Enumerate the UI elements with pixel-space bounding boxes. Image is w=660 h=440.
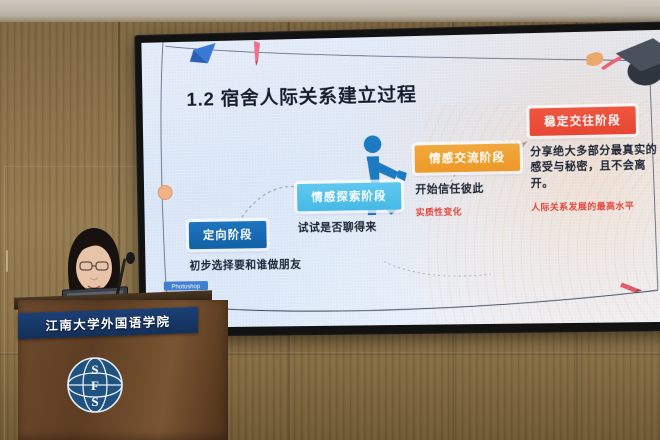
pennant-icon <box>189 43 215 64</box>
stage-3-caption: 开始信任彼此 <box>415 180 520 197</box>
graduation-cap-icon <box>615 38 660 87</box>
book-label: Photoshop <box>171 284 201 290</box>
svg-text:F: F <box>91 378 99 393</box>
stage-4[interactable]: 稳定交往阶段 分享绝大多部分最真实的感受与秘密，且不会离开。 人际关系发展的最高… <box>529 106 660 214</box>
stage-4-caption: 分享绝大多部分最真实的感受与秘密，且不会离开。 <box>530 143 660 193</box>
stage-2-chip[interactable]: 情感探索阶段 <box>297 182 401 211</box>
stage-3-chip[interactable]: 情感交流阶段 <box>415 143 520 172</box>
venue-plaque-text: 江南大学外国语学院 <box>45 312 170 335</box>
page-title: 1.2 宿舍人际关系建立过程 <box>186 81 417 112</box>
pen-icon-bottom <box>620 282 642 293</box>
projection-screen: 1.2 宿舍人际关系建立过程 定向阶段 初步选择要和谁做朋友 情感探索阶段 试试… <box>135 22 660 336</box>
svg-text:S: S <box>91 362 98 377</box>
microphone-head <box>126 252 135 264</box>
svg-text:S: S <box>91 394 98 409</box>
lecture-hall-photo: 1.2 宿舍人际关系建立过程 定向阶段 初步选择要和谁做朋友 情感探索阶段 试试… <box>0 0 660 440</box>
door-handle <box>6 250 8 272</box>
stage-1[interactable]: 定向阶段 初步选择要和谁做朋友 <box>189 220 302 273</box>
stage-2-caption: 试试是否聊得来 <box>298 219 402 236</box>
stage-3-note: 实质性变化 <box>416 204 521 218</box>
stage-4-note: 人际关系发展的最高水平 <box>531 199 660 214</box>
stage-2[interactable]: 情感探索阶段 试试是否聊得来 <box>297 182 402 235</box>
stage-4-chip[interactable]: 稳定交往阶段 <box>529 106 635 136</box>
presentation-slide: 1.2 宿舍人际关系建立过程 定向阶段 初步选择要和谁做朋友 情感探索阶段 试试… <box>141 30 660 328</box>
pen-icon <box>254 41 261 66</box>
stage-3[interactable]: 情感交流阶段 开始信任彼此 实质性变化 <box>415 143 521 218</box>
sfs-globe-logo: S F S <box>66 356 124 414</box>
stage-1-chip[interactable]: 定向阶段 <box>189 221 267 249</box>
